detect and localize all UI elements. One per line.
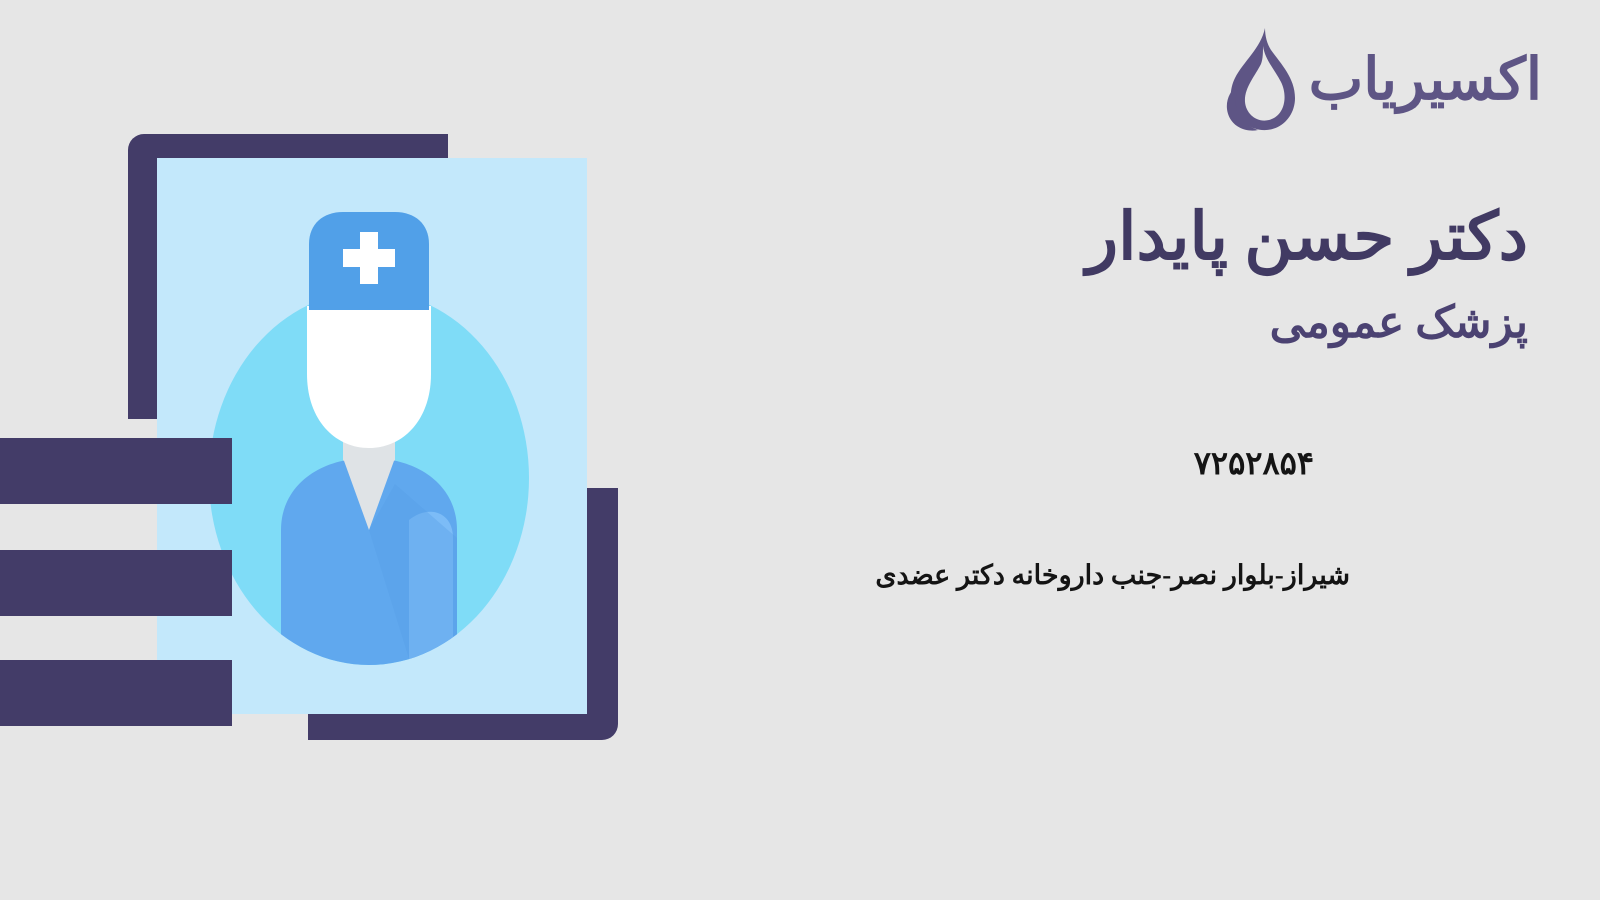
decorative-bar-3 xyxy=(0,660,232,726)
brand-name: اکسیریاب xyxy=(1309,51,1542,109)
doctor-specialty: پزشک عمومی xyxy=(768,294,1528,351)
address-row: شیراز-بلوار نصر-جنب داروخانه دکتر عضدی xyxy=(875,562,1350,589)
doctor-name: دکتر حسن پایدار xyxy=(768,200,1528,276)
doctor-info: دکتر حسن پایدار پزشک عمومی xyxy=(768,200,1528,351)
phone-number: ۷۲۵۲۸۵۴ xyxy=(1194,447,1314,479)
flame-droplet-icon xyxy=(1213,26,1299,134)
doctor-avatar-icon xyxy=(157,158,587,714)
illustration-block xyxy=(128,134,618,740)
doctor-profile-card: اکسیریاب xyxy=(0,0,1600,900)
address-text: شیراز-بلوار نصر-جنب داروخانه دکتر عضدی xyxy=(875,562,1350,589)
brand-logo: اکسیریاب xyxy=(1213,26,1542,134)
decorative-bar-1 xyxy=(0,438,232,504)
phone-row: ۷۲۵۲۸۵۴ xyxy=(1194,447,1314,479)
decorative-bar-2 xyxy=(0,550,232,616)
